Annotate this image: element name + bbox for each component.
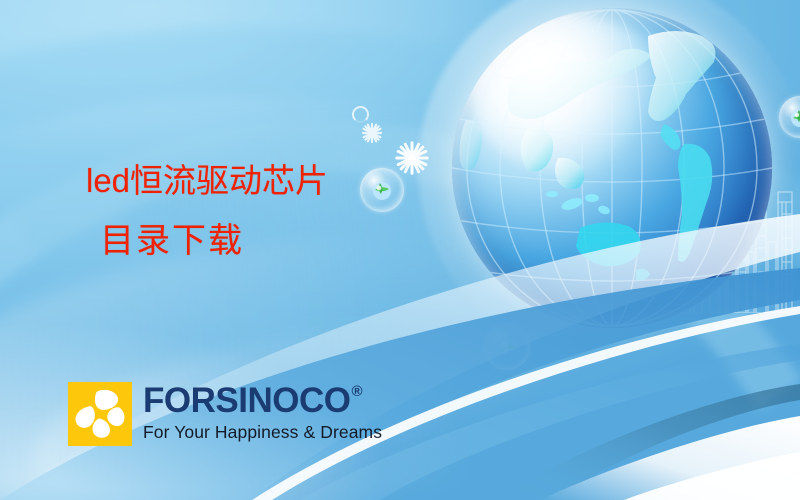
banner-image: led恒流驱动芯片 目录下载 FORSINOCO ® For Your Happ… bbox=[0, 0, 800, 500]
page-title: led恒流驱动芯片 目录下载 bbox=[86, 164, 328, 259]
logo-tagline: For Your Happiness & Dreams bbox=[143, 422, 382, 443]
four-petal-flower-icon bbox=[68, 382, 132, 446]
headline-line-1: led恒流驱动芯片 bbox=[86, 164, 328, 199]
headline-line-2: 目录下载 bbox=[100, 225, 328, 259]
headline-cjk: 恒流驱动芯片 bbox=[130, 164, 328, 200]
logo-text-block: FORSINOCO ® For Your Happiness & Dreams bbox=[143, 382, 382, 443]
brand-logo: FORSINOCO ® For Your Happiness & Dreams bbox=[68, 382, 382, 446]
logo-wordmark: FORSINOCO ® bbox=[143, 383, 382, 418]
logo-mark bbox=[68, 382, 132, 446]
registered-trademark-icon: ® bbox=[351, 384, 362, 399]
headline-latin: led bbox=[86, 162, 130, 199]
logo-wordmark-text: FORSINOCO bbox=[143, 383, 350, 418]
